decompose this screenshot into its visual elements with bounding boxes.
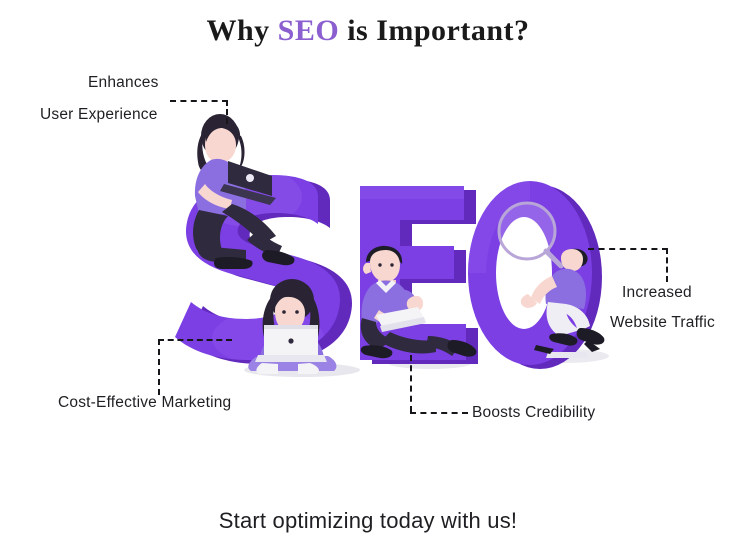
footer-call-to-action: Start optimizing today with us! bbox=[0, 508, 736, 534]
magnifying-glass-handle bbox=[546, 251, 561, 266]
callout-website-traffic-line2: Website Traffic bbox=[610, 314, 715, 332]
shadow-woman-base bbox=[244, 363, 360, 377]
title-accent-seo: SEO bbox=[278, 14, 340, 47]
connector-website-traffic-vertical bbox=[666, 248, 668, 282]
character-person-on-o bbox=[499, 203, 604, 358]
connector-boosts-credibility-horizontal bbox=[410, 412, 468, 414]
connector-user-experience-horizontal bbox=[170, 100, 228, 102]
character-woman-base-s bbox=[248, 279, 336, 374]
title-prefix: Why bbox=[206, 14, 277, 47]
letter-o bbox=[468, 181, 602, 369]
shadow-man-e bbox=[388, 357, 472, 369]
connector-website-traffic-horizontal bbox=[588, 248, 668, 250]
connector-cost-effective-vertical bbox=[158, 339, 160, 395]
callout-boosts-credibility: Boosts Credibility bbox=[472, 404, 595, 422]
letter-s bbox=[175, 167, 352, 366]
callout-website-traffic-line1: Increased bbox=[622, 284, 692, 302]
character-man-on-e bbox=[361, 246, 477, 358]
infographic-poster: Why SEO is Important? bbox=[0, 0, 736, 552]
connector-user-experience-vertical bbox=[226, 100, 228, 124]
magnifying-glass-lens bbox=[499, 203, 555, 259]
page-title: Why SEO is Important? bbox=[0, 14, 736, 48]
character-woman-on-s bbox=[193, 114, 294, 269]
connector-boosts-credibility-vertical bbox=[410, 355, 412, 412]
letter-e bbox=[360, 186, 478, 364]
callout-cost-effective-marketing: Cost-Effective Marketing bbox=[58, 394, 231, 412]
callout-user-experience-line2: User Experience bbox=[40, 106, 158, 124]
title-suffix: is Important? bbox=[339, 14, 529, 47]
connector-cost-effective-horizontal bbox=[158, 339, 232, 341]
callout-user-experience-line1: Enhances bbox=[88, 74, 159, 92]
shadow-person-o bbox=[517, 349, 609, 363]
